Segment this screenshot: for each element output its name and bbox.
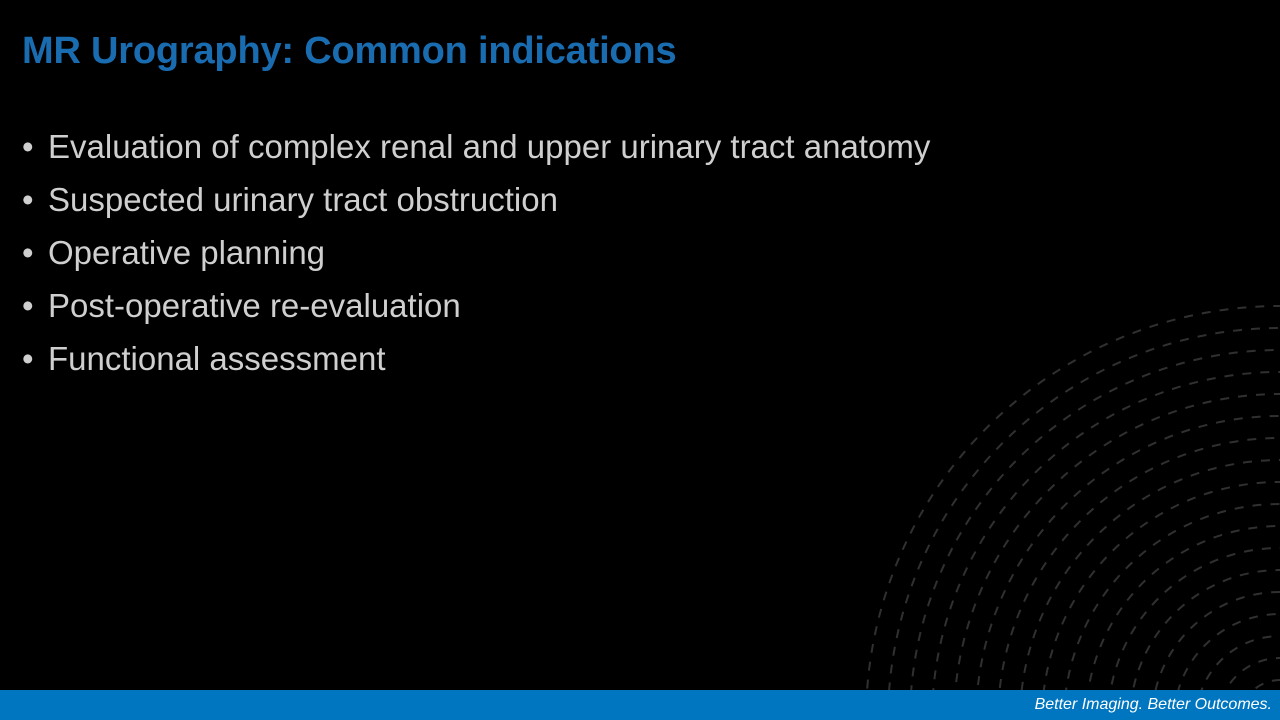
list-item-label: Suspected urinary tract obstruction — [48, 173, 558, 226]
list-item-label: Post-operative re-evaluation — [48, 279, 461, 332]
list-item: • Post-operative re-evaluation — [22, 279, 1222, 332]
bullet-marker-icon: • — [22, 226, 48, 279]
list-item: • Functional assessment — [22, 332, 1222, 385]
footer-bar: Better Imaging. Better Outcomes. — [0, 690, 1280, 720]
page-title: MR Urography: Common indications — [22, 28, 1202, 74]
list-item-label: Operative planning — [48, 226, 325, 279]
list-item-label: Functional assessment — [48, 332, 386, 385]
bullet-marker-icon: • — [22, 332, 48, 385]
list-item: • Evaluation of complex renal and upper … — [22, 120, 1222, 173]
list-item: • Operative planning — [22, 226, 1222, 279]
indications-bullet-list: • Evaluation of complex renal and upper … — [22, 120, 1222, 385]
bullet-marker-icon: • — [22, 173, 48, 226]
bullet-marker-icon: • — [22, 279, 48, 332]
list-item-label: Evaluation of complex renal and upper ur… — [48, 120, 930, 173]
footer-tagline: Better Imaging. Better Outcomes. — [1035, 696, 1272, 714]
slide-canvas: MR Urography: Common indications • Evalu… — [0, 0, 1280, 720]
list-item: • Suspected urinary tract obstruction — [22, 173, 1222, 226]
bullet-marker-icon: • — [22, 120, 48, 173]
